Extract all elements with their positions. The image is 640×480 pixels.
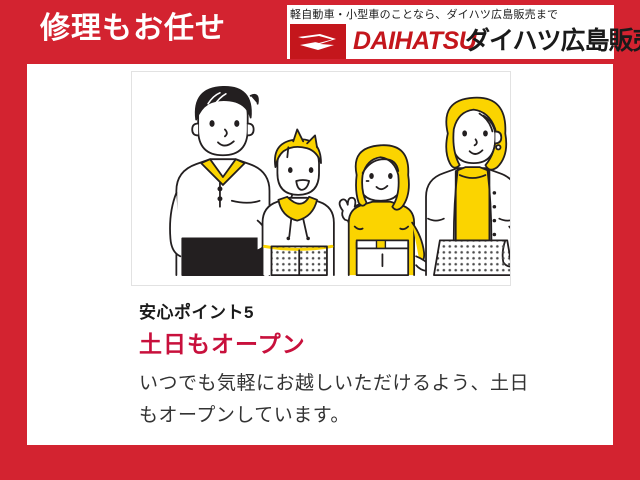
headline: 土日もオープン	[139, 328, 559, 360]
logo-tagline: 軽自動車・小型車のことなら、ダイハツ広島販売まで	[290, 6, 612, 24]
promo-banner: 修理もお任せ 軽自動車・小型車のことなら、ダイハツ広島販売まで DAIHATSU…	[0, 0, 640, 480]
logo-dealer-name: ダイハツ広島販売	[465, 24, 640, 59]
body-text: いつでも気軽にお越しいただけるよう、土日もオープンしています。	[139, 368, 539, 432]
content-card: 安心ポイント5 土日もオープン いつでも気軽にお越しいただけるよう、土日もオープ…	[27, 64, 613, 445]
daihatsu-logo-lockup: 軽自動車・小型車のことなら、ダイハツ広島販売まで DAIHATSU ダイハツ広島…	[287, 5, 614, 59]
daihatsu-d-emblem-icon	[290, 24, 346, 59]
family-illustration-frame	[131, 71, 511, 286]
page-title: 修理もお任せ	[40, 10, 226, 48]
family-illustration	[132, 72, 510, 285]
logo-wordmark: DAIHATSU	[353, 24, 476, 59]
header-bar: 修理もお任せ 軽自動車・小型車のことなら、ダイハツ広島販売まで DAIHATSU…	[0, 0, 640, 64]
text-block: 安心ポイント5 土日もオープン いつでも気軽にお越しいただけるよう、土日もオープ…	[139, 300, 559, 432]
point-label: 安心ポイント5	[139, 300, 559, 326]
logo-row: DAIHATSU ダイハツ広島販売	[287, 24, 614, 59]
